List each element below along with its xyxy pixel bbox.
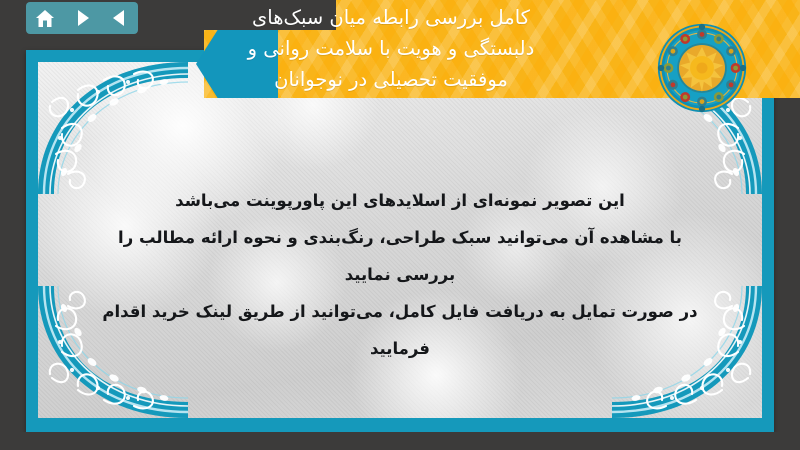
- bottom-background-strip: [0, 432, 800, 450]
- next-button[interactable]: [68, 5, 96, 31]
- previous-arrow-icon: [111, 9, 128, 27]
- next-arrow-icon: [74, 9, 91, 27]
- navigation-bar: [26, 2, 138, 34]
- slide-preview: کامل بررسی رابطه میان سبک‌های دلبستگی و …: [0, 0, 800, 450]
- persian-medallion-ornament: [656, 22, 748, 114]
- home-icon: [35, 9, 55, 28]
- home-button[interactable]: [31, 5, 59, 31]
- slide-title: کامل بررسی رابطه میان سبک‌های دلبستگی و …: [90, 2, 692, 95]
- slide-body-text: این تصویر نمونه‌ای از اسلایدهای این پاور…: [98, 182, 702, 367]
- content-panel: این تصویر نمونه‌ای از اسلایدهای این پاور…: [38, 62, 762, 418]
- previous-button[interactable]: [105, 5, 133, 31]
